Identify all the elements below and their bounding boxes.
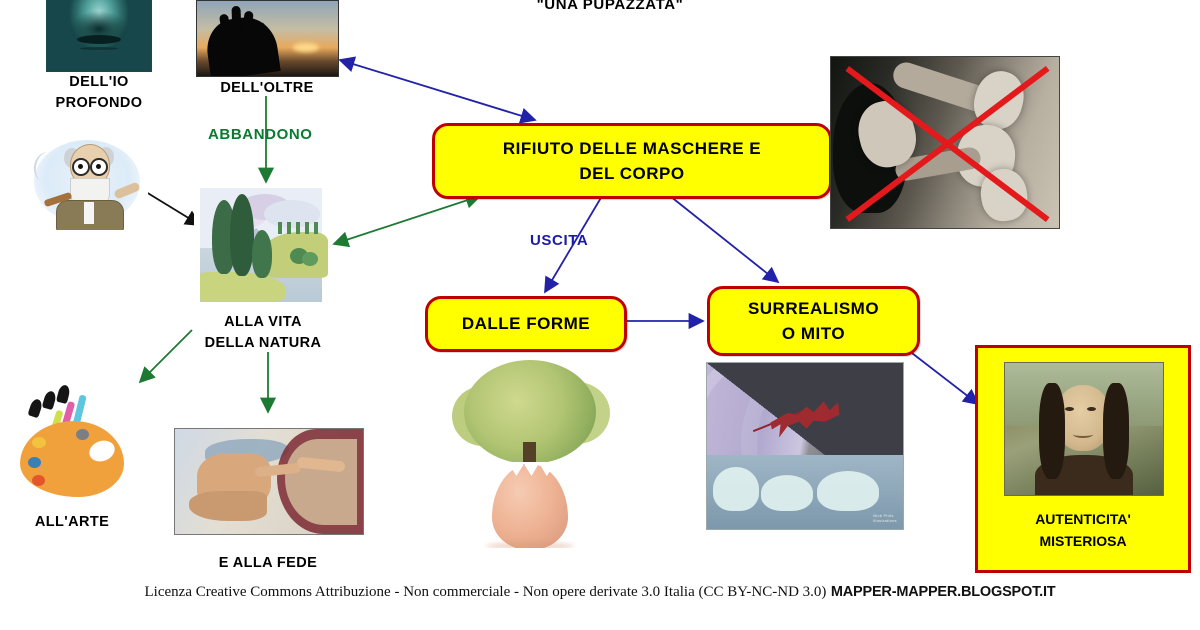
- red-cross-out-icon: [831, 57, 1059, 228]
- caption-fede: E ALLA FEDE: [168, 553, 368, 574]
- caption-arte: ALL'ARTE: [8, 512, 136, 533]
- tree-row: [278, 222, 320, 234]
- node-surrealismo-o-mito[interactable]: SURREALISMO O MITO: [707, 286, 920, 356]
- wave-shape: [817, 471, 879, 511]
- caption-natura: ALLA VITA DELLA NATURA: [190, 312, 336, 354]
- adam-legs: [189, 491, 267, 521]
- submerged-face-photo: [46, 0, 152, 72]
- paint-blob: [76, 429, 89, 440]
- node-autenticita-misteriosa[interactable]: AUTENTICITA' MISTERIOSA: [975, 345, 1191, 573]
- bush-shape: [302, 252, 318, 266]
- tree-shape: [252, 230, 272, 278]
- sun-glow: [293, 43, 319, 52]
- eyeglass-right: [90, 158, 108, 176]
- wave-shape: [713, 467, 759, 511]
- paint-blob: [32, 475, 45, 486]
- eye-shape: [1087, 407, 1096, 411]
- license-text: Licenza Creative Commons Attribuzione - …: [145, 584, 827, 600]
- finger-shape: [231, 6, 241, 36]
- brush-tip: [27, 398, 43, 419]
- edge-freud-natura: [146, 192, 200, 225]
- paint-blob: [32, 437, 46, 448]
- hair-strand: [1103, 383, 1129, 479]
- edge-natura-rifiuto: [334, 196, 480, 244]
- mona-lisa-portrait: [1004, 362, 1164, 496]
- edge-label-uscita: USCITA: [530, 232, 588, 249]
- edge-oltre-rifiuto: [340, 60, 535, 120]
- wave-shape: [761, 475, 813, 511]
- masked-faces-photo-crossed-out: [830, 56, 1060, 229]
- eyeglass-left: [72, 158, 90, 176]
- caption-mona: AUTENTICITA' MISTERIOSA: [978, 508, 1188, 553]
- caption-io-profondo: DELL'IO PROFONDO: [18, 72, 180, 114]
- brush-tip: [42, 390, 58, 410]
- node-rifiuto-delle-maschere[interactable]: RIFIUTO DELLE MASCHERE E DEL CORPO: [432, 123, 832, 199]
- shirt-shape: [84, 202, 94, 224]
- tree-in-eggshell: [446, 358, 612, 548]
- creation-of-adam-fresco: [174, 428, 364, 535]
- freud-caricature: [26, 134, 148, 230]
- edge-surrealismo-mona: [908, 350, 978, 404]
- nature-landscape-illustration: [194, 186, 328, 304]
- eggshell-shape: [492, 464, 568, 548]
- edge-natura-arte: [140, 330, 192, 382]
- edge-rifiuto-surrealismo: [670, 196, 778, 282]
- concept-map-canvas: "UNA PUPAZZATA" DELL'IO PROFONDO DELL'OL…: [0, 0, 1200, 630]
- ground-shadow: [486, 542, 574, 548]
- caption-oltre: DELL'OLTRE: [196, 78, 338, 99]
- node-dalle-forme[interactable]: DALLE FORME: [425, 296, 627, 352]
- hair-strand: [1039, 383, 1065, 479]
- site-url[interactable]: MAPPER-MAPPER.BLOGSPOT.IT: [831, 584, 1056, 600]
- hand-shape: [203, 13, 280, 77]
- artist-signature: Nick Phils illustrations: [873, 513, 897, 523]
- eye-shape: [1065, 407, 1074, 411]
- page-title: "UNA PUPAZZATA": [400, 0, 820, 13]
- hand-silhouette-sunset-photo: [196, 0, 339, 77]
- smile-shape: [1073, 431, 1093, 438]
- footer: Licenza Creative Commons Attribuzione - …: [0, 583, 1200, 601]
- edge-label-abbandono: ABBANDONO: [208, 126, 313, 143]
- surreal-red-horseman-waves: Nick Phils illustrations: [706, 362, 904, 530]
- tree-shape: [230, 194, 254, 276]
- paint-blob: [28, 457, 41, 468]
- paint-palette-brushes: [10, 385, 135, 505]
